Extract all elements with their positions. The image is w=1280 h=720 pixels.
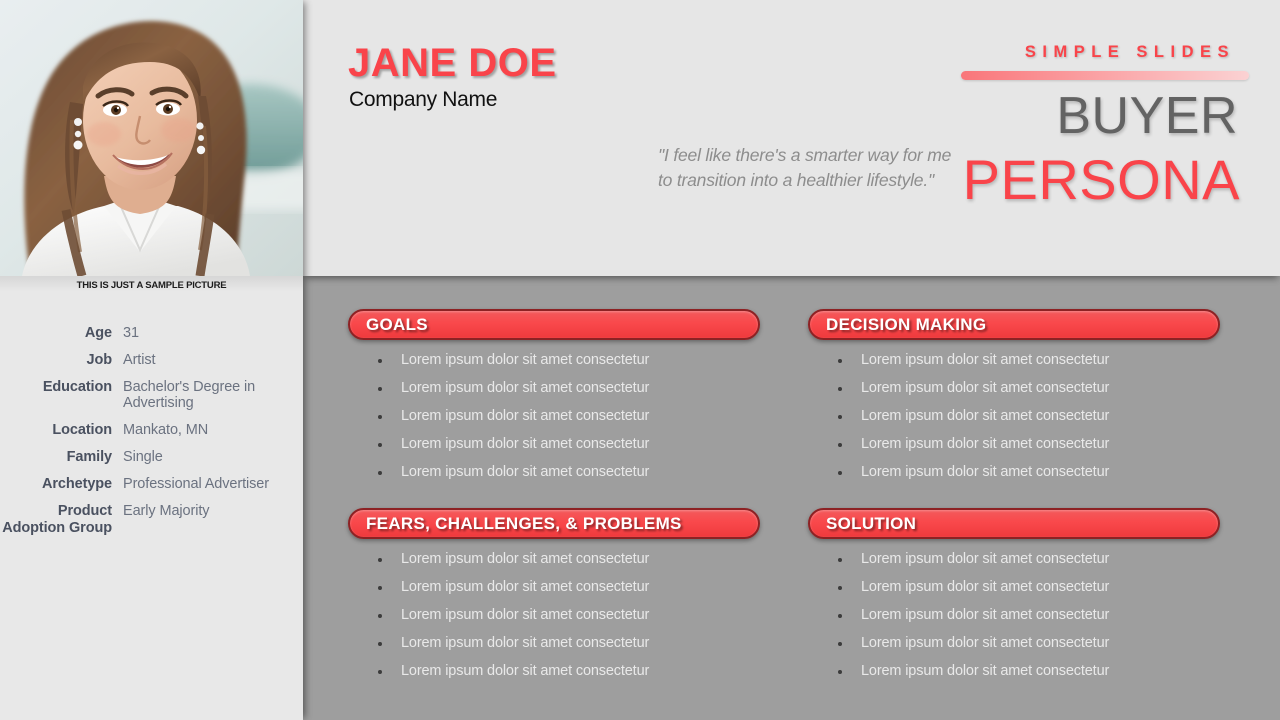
bullet-list-goals: Lorem ipsum dolor sit amet consectetur L…	[348, 340, 762, 481]
list-item: Lorem ipsum dolor sit amet consectetur	[378, 437, 762, 453]
slide-title-persona: PERSONA	[963, 152, 1240, 208]
list-item: Lorem ipsum dolor sit amet consectetur	[838, 353, 1222, 369]
section-title-solution: SOLUTION	[826, 514, 916, 534]
section-title-decision-making: DECISION MAKING	[826, 315, 986, 335]
section-fears-challenges-problems: FEARS, CHALLENGES, & PROBLEMS Lorem ipsu…	[348, 508, 762, 692]
info-value-location: Mankato, MN	[123, 417, 303, 444]
list-item: Lorem ipsum dolor sit amet consectetur	[378, 409, 762, 425]
list-item: Lorem ipsum dolor sit amet consectetur	[378, 636, 762, 652]
section-header-decision-making[interactable]: DECISION MAKING	[808, 309, 1220, 340]
info-label-family: Family	[0, 444, 123, 471]
brand-label: SIMPLE SLIDES	[1025, 43, 1235, 62]
info-value-job: Artist	[123, 347, 303, 374]
info-label-location: Location	[0, 417, 123, 444]
list-item: Lorem ipsum dolor sit amet consectetur	[378, 353, 762, 369]
info-label-product-adoption-group: Product Adoption Group	[0, 498, 123, 542]
list-item: Lorem ipsum dolor sit amet consectetur	[378, 381, 762, 397]
list-item: Lorem ipsum dolor sit amet consectetur	[838, 381, 1222, 397]
list-item: Lorem ipsum dolor sit amet consectetur	[838, 608, 1222, 624]
info-value-education: Bachelor's Degree in Advertising	[123, 374, 303, 418]
list-item: Lorem ipsum dolor sit amet consectetur	[838, 409, 1222, 425]
section-header-goals[interactable]: GOALS	[348, 309, 760, 340]
info-label-age: Age	[0, 320, 123, 347]
list-item: Lorem ipsum dolor sit amet consectetur	[838, 465, 1222, 481]
persona-sidebar: THIS IS JUST A SAMPLE PICTURE Age 31 Job…	[0, 0, 303, 720]
list-item: Lorem ipsum dolor sit amet consectetur	[838, 636, 1222, 652]
list-item: Lorem ipsum dolor sit amet consectetur	[378, 552, 762, 568]
persona-info-body: Age 31 Job Artist Education Bachelor's D…	[0, 320, 303, 541]
persona-quote: "I feel like there's a smarter way for m…	[658, 143, 958, 194]
table-row: Family Single	[0, 444, 303, 471]
company-name: Company Name	[349, 89, 497, 110]
info-value-family: Single	[123, 444, 303, 471]
table-row: Archetype Professional Advertiser	[0, 471, 303, 498]
section-header-fears[interactable]: FEARS, CHALLENGES, & PROBLEMS	[348, 508, 760, 539]
section-header-solution[interactable]: SOLUTION	[808, 508, 1220, 539]
info-label-education: Education	[0, 374, 123, 418]
list-item: Lorem ipsum dolor sit amet consectetur	[378, 608, 762, 624]
list-item: Lorem ipsum dolor sit amet consectetur	[838, 437, 1222, 453]
list-item: Lorem ipsum dolor sit amet consectetur	[838, 552, 1222, 568]
table-row: Location Mankato, MN	[0, 417, 303, 444]
info-label-archetype: Archetype	[0, 471, 123, 498]
content-area: GOALS Lorem ipsum dolor sit amet consect…	[303, 276, 1280, 720]
table-row: Product Adoption Group Early Majority	[0, 498, 303, 542]
photo-caption: THIS IS JUST A SAMPLE PICTURE	[0, 276, 303, 298]
info-label-job: Job	[0, 347, 123, 374]
bullet-list-solution: Lorem ipsum dolor sit amet consectetur L…	[808, 539, 1222, 680]
info-value-age: 31	[123, 320, 303, 347]
buyer-persona-slide: THIS IS JUST A SAMPLE PICTURE Age 31 Job…	[0, 0, 1280, 720]
list-item: Lorem ipsum dolor sit amet consectetur	[378, 664, 762, 680]
info-value-archetype: Professional Advertiser	[123, 471, 303, 498]
info-value-product-adoption-group: Early Majority	[123, 498, 303, 542]
section-solution: SOLUTION Lorem ipsum dolor sit amet cons…	[808, 508, 1222, 692]
section-title-goals: GOALS	[366, 315, 428, 335]
bullet-list-fears: Lorem ipsum dolor sit amet consectetur L…	[348, 539, 762, 680]
list-item: Lorem ipsum dolor sit amet consectetur	[378, 580, 762, 596]
persona-info-table: Age 31 Job Artist Education Bachelor's D…	[0, 320, 303, 541]
section-goals: GOALS Lorem ipsum dolor sit amet consect…	[348, 309, 762, 493]
list-item: Lorem ipsum dolor sit amet consectetur	[838, 664, 1222, 680]
brand-divider	[961, 71, 1249, 80]
section-title-fears: FEARS, CHALLENGES, & PROBLEMS	[366, 514, 682, 534]
table-row: Job Artist	[0, 347, 303, 374]
table-row: Age 31	[0, 320, 303, 347]
table-row: Education Bachelor's Degree in Advertisi…	[0, 374, 303, 418]
persona-name: JANE DOE	[348, 43, 557, 83]
slide-title-buyer: BUYER	[1056, 90, 1238, 142]
portrait-photo	[0, 0, 303, 276]
portrait-photo-graphic	[0, 0, 303, 276]
bullet-list-decision-making: Lorem ipsum dolor sit amet consectetur L…	[808, 340, 1222, 481]
list-item: Lorem ipsum dolor sit amet consectetur	[378, 465, 762, 481]
list-item: Lorem ipsum dolor sit amet consectetur	[838, 580, 1222, 596]
section-decision-making: DECISION MAKING Lorem ipsum dolor sit am…	[808, 309, 1222, 493]
header-panel: JANE DOE Company Name "I feel like there…	[303, 0, 1280, 276]
